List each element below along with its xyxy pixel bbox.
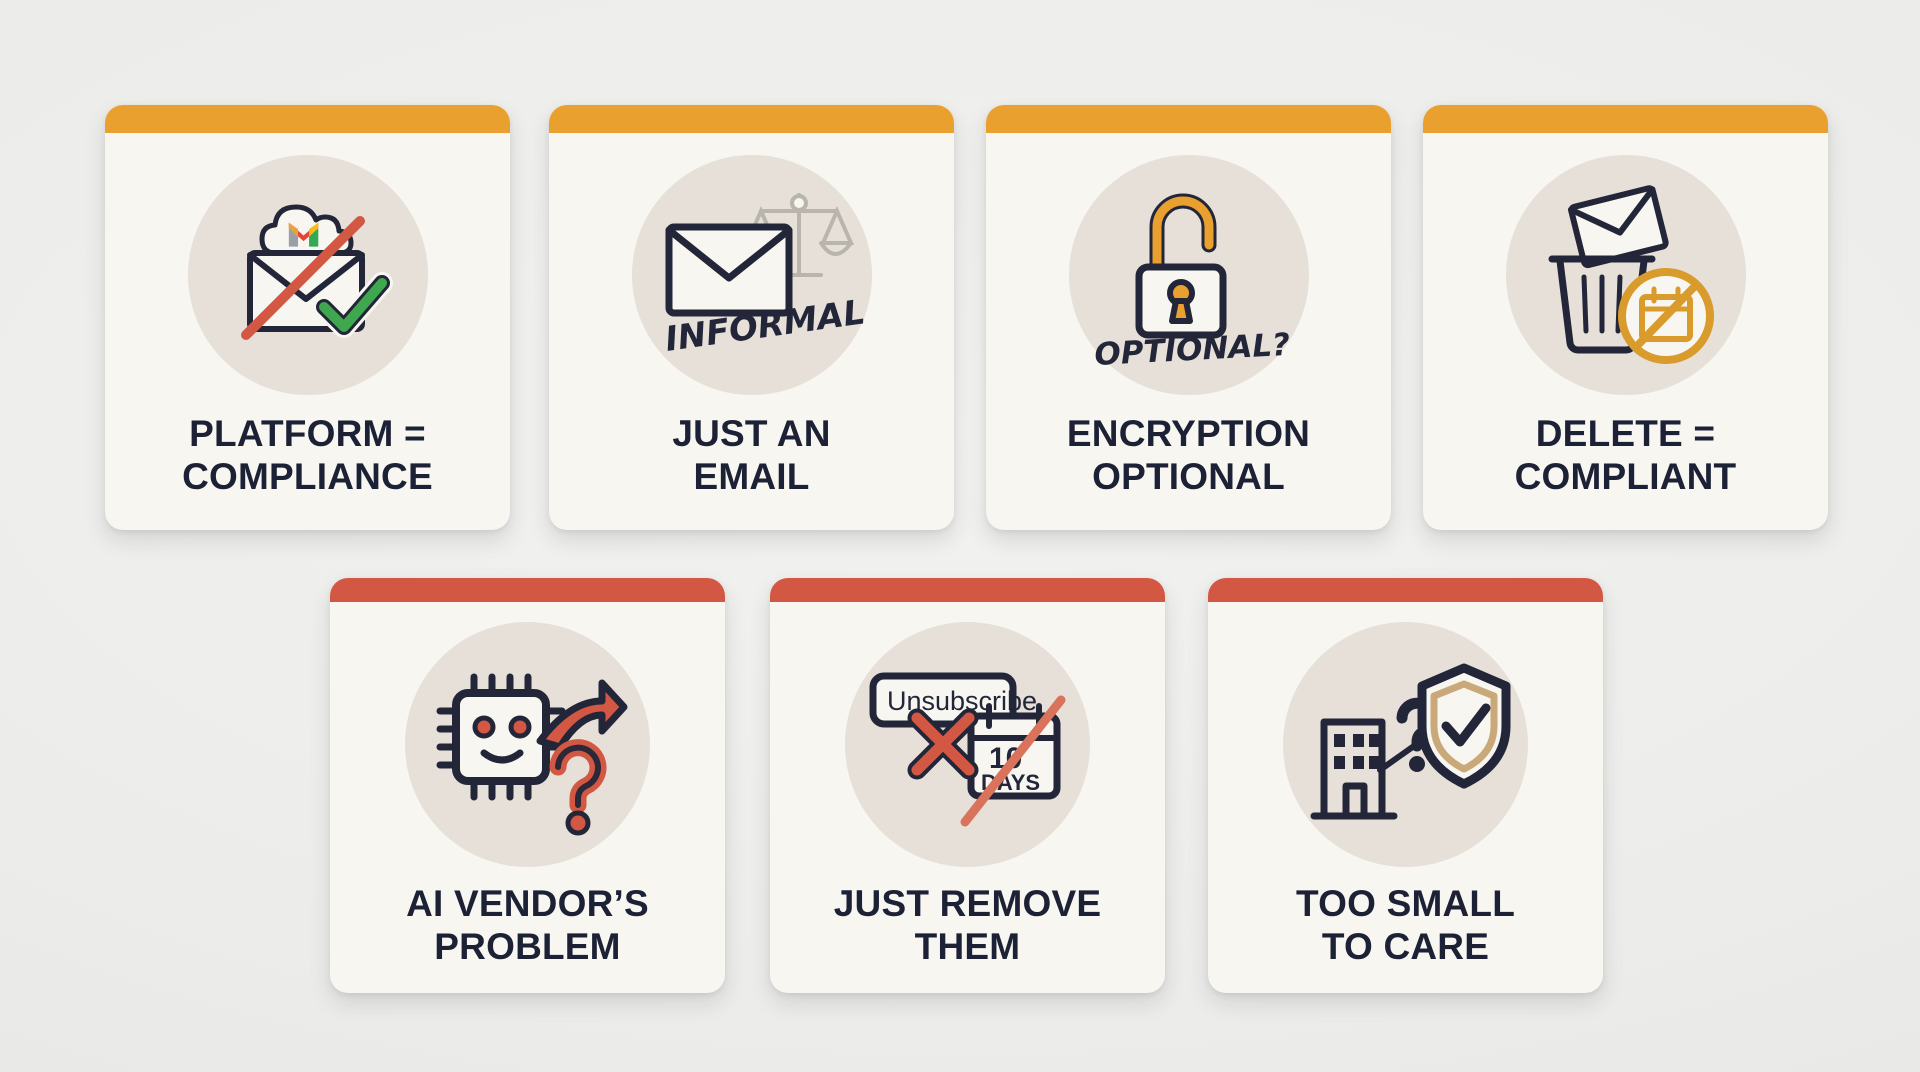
- shield-check-icon: [1422, 668, 1506, 784]
- ai-chip-arrow-question-icon: [428, 645, 628, 845]
- card-body: Unsubscribe 10 DAYS: [770, 602, 1165, 993]
- card-body: AI VENDOR’S PROBLEM: [330, 602, 725, 993]
- icon-circle: [188, 155, 428, 395]
- cards-board: PLATFORM = COMPLIANCE: [0, 0, 1920, 1072]
- icon-circle: [1506, 155, 1746, 395]
- envelope-icon: [1570, 187, 1666, 266]
- card-delete-compliant[interactable]: DELETE = COMPLIANT: [1423, 105, 1828, 530]
- trash-envelope-no-calendar-icon: [1526, 175, 1726, 375]
- card-accent-bar: [1423, 105, 1828, 133]
- card-just-an-email[interactable]: INFORMAL JUST AN EMAIL: [549, 105, 954, 530]
- card-accent-bar: [986, 105, 1391, 133]
- building-question-shield-check-icon: [1306, 650, 1506, 840]
- optional-caption: OPTIONAL?: [1093, 327, 1290, 373]
- card-label: ENCRYPTION OPTIONAL: [1057, 413, 1320, 499]
- icon-circle: [1283, 622, 1528, 867]
- icon-circle: INFORMAL: [632, 155, 872, 395]
- card-label: DELETE = COMPLIANT: [1505, 413, 1747, 499]
- icon-circle: OPTIONAL?: [1069, 155, 1309, 395]
- red-arrow-icon: [540, 683, 624, 747]
- card-label: PLATFORM = COMPLIANCE: [172, 413, 443, 499]
- unsubscribe-x-calendar-icon: Unsubscribe 10 DAYS: [865, 650, 1070, 840]
- icon-circle: [405, 622, 650, 867]
- card-accent-bar: [105, 105, 510, 133]
- card-label: JUST AN EMAIL: [662, 413, 840, 499]
- envelope-scales-informal-icon: INFORMAL: [649, 175, 854, 375]
- gmail-cloud-envelope-crossed-check-icon: [208, 175, 408, 375]
- card-just-remove-them[interactable]: Unsubscribe 10 DAYS: [770, 578, 1165, 993]
- card-label: JUST REMOVE THEM: [824, 883, 1111, 969]
- chip-eye-left-icon: [475, 718, 493, 736]
- chip-eye-right-icon: [511, 718, 529, 736]
- open-padlock-optional-icon: OPTIONAL?: [1089, 175, 1289, 375]
- card-label: TOO SMALL TO CARE: [1286, 883, 1525, 969]
- no-calendar-badge-icon: [1622, 272, 1710, 360]
- card-body: OPTIONAL? ENCRYPTION OPTIONAL: [986, 133, 1391, 530]
- card-body: INFORMAL JUST AN EMAIL: [549, 133, 954, 530]
- card-too-small-to-care[interactable]: TOO SMALL TO CARE: [1208, 578, 1603, 993]
- card-accent-bar: [330, 578, 725, 602]
- card-body: PLATFORM = COMPLIANCE: [105, 133, 510, 530]
- building-windows-icon: [1334, 734, 1379, 769]
- card-accent-bar: [770, 578, 1165, 602]
- card-encryption-optional[interactable]: OPTIONAL? ENCRYPTION OPTIONAL: [986, 105, 1391, 530]
- icon-circle: Unsubscribe 10 DAYS: [845, 622, 1090, 867]
- card-body: DELETE = COMPLIANT: [1423, 133, 1828, 530]
- card-body: TOO SMALL TO CARE: [1208, 602, 1603, 993]
- unsubscribe-label: Unsubscribe: [887, 686, 1037, 716]
- chip-body-icon: [456, 693, 546, 781]
- card-accent-bar: [1208, 578, 1603, 602]
- question-dot-icon: [1409, 756, 1425, 772]
- card-ai-vendors-problem[interactable]: AI VENDOR’S PROBLEM: [330, 578, 725, 993]
- card-label: AI VENDOR’S PROBLEM: [396, 883, 659, 969]
- card-platform-compliance[interactable]: PLATFORM = COMPLIANCE: [105, 105, 510, 530]
- question-mark-icon: [558, 747, 598, 832]
- card-accent-bar: [549, 105, 954, 133]
